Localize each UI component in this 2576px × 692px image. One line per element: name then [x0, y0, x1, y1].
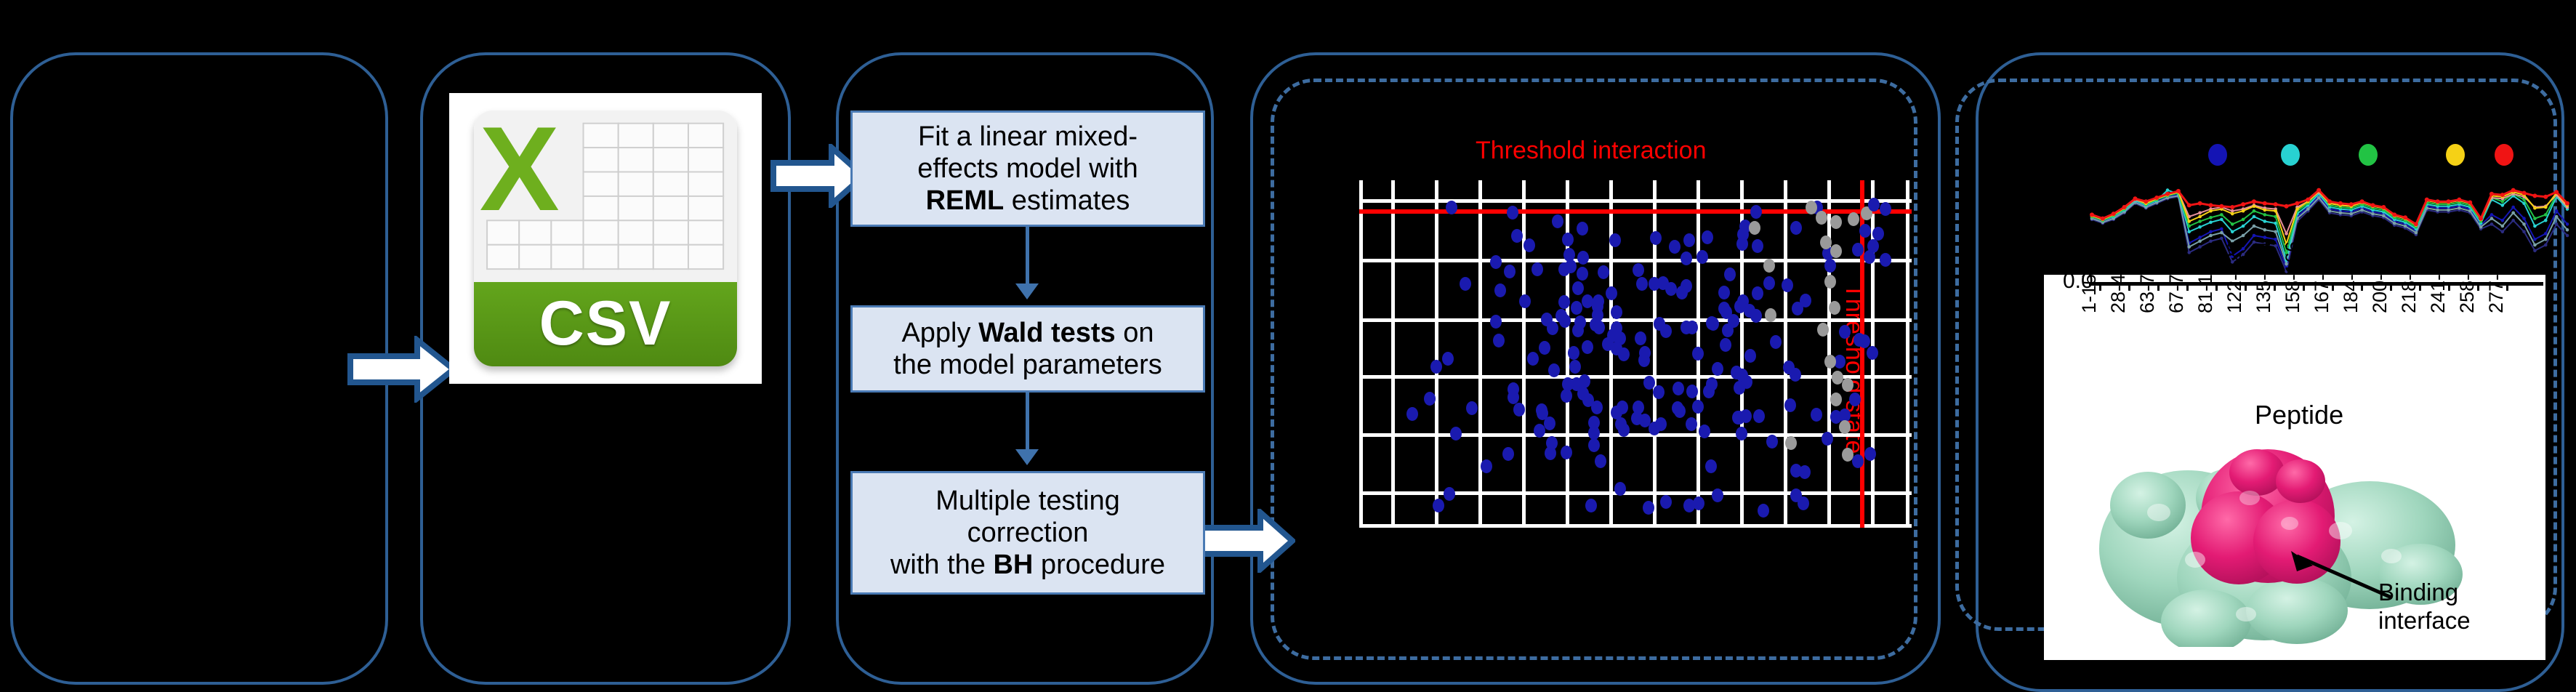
wald-tests-step-text: Apply Wald tests on the model parameters [893, 317, 1162, 381]
peptide-tick-mark [2390, 282, 2392, 291]
peptide-series-point [2566, 234, 2569, 238]
peptide-series-point [2198, 225, 2202, 229]
peptide-series-point [2154, 196, 2159, 200]
multiple-testing-step-text: Multiple testing correction with the BH … [890, 485, 1165, 581]
fit-model-step-text: Fit a linear mixed- effects model with R… [917, 121, 1138, 217]
peptide-series-point [2209, 203, 2213, 207]
peptide-series-point [2317, 188, 2321, 193]
peptide-series-point [2230, 205, 2234, 209]
scatter-point [1569, 360, 1581, 374]
peptide-series-point [2566, 228, 2569, 232]
scatter-point [1830, 393, 1842, 406]
scatter-point [1460, 277, 1471, 291]
peptide-tick-mark [2186, 282, 2189, 291]
peptide-tick-mark [2099, 282, 2101, 291]
peptide-tick-label: 200-214 [2369, 241, 2391, 313]
peptide-series-point [2392, 212, 2396, 217]
peptide-series-point [2263, 201, 2267, 206]
scatter-point [1579, 374, 1590, 388]
legend-dot-0 [2208, 144, 2227, 166]
scatter-point [1539, 341, 1550, 355]
binding-interface-line-2: interface [2378, 607, 2471, 635]
scatter-point [1696, 250, 1708, 264]
csv-file-card: X CSV [449, 93, 762, 384]
scatter-point [1784, 398, 1796, 412]
peptide-series-point [2187, 203, 2191, 207]
scatter-point [1607, 329, 1619, 342]
x-axis-title: Peptide [2255, 400, 2343, 430]
scatter-point [1830, 215, 1842, 229]
scatter-point [1490, 315, 1502, 329]
peptide-series-point [2209, 221, 2213, 225]
peptide-tick-label: 258-266 [2456, 241, 2479, 313]
peptide-series-point [2522, 217, 2526, 220]
peptide-series-point [2090, 212, 2094, 217]
peptide-tick-label: 158-166 [2282, 241, 2304, 313]
peptide-series-point [2370, 203, 2375, 207]
peptide-series-point [2554, 190, 2559, 194]
peptide-tick-mark [2128, 282, 2130, 291]
peptide-series-point [2209, 216, 2213, 220]
peptide-series-point [2253, 215, 2256, 219]
scatter-point [1617, 401, 1628, 414]
scatter-point [1842, 378, 1853, 392]
peptide-series-point [2544, 206, 2548, 209]
peptide-series-point [2544, 219, 2548, 222]
binding-interface-label: Binding interface [2378, 579, 2471, 635]
scatter-point [1839, 325, 1851, 339]
scatter-point [1736, 427, 1747, 440]
multiple-testing-step[interactable]: Multiple testing correction with the BH … [850, 471, 1205, 595]
peptide-tick-label: 1-15 [2078, 274, 2101, 313]
peptide-series-point [2285, 232, 2288, 236]
csv-x-letter: X [480, 114, 574, 196]
volcano-scatter-plot: Threshold interaction Threshold state [1359, 153, 1912, 531]
scatter-point [1830, 244, 1842, 258]
peptide-series-point [2447, 199, 2451, 204]
scatter-point [1800, 294, 1811, 307]
scatter-point [1546, 436, 1558, 450]
scatter-point [1720, 338, 1731, 352]
peptide-tick-label: 218-237 [2398, 241, 2420, 313]
threshold-interaction-label: Threshold interaction [1476, 137, 1707, 165]
scatter-point [1665, 282, 1677, 296]
scatter-point [1592, 308, 1603, 322]
peptide-series-point [2533, 249, 2537, 253]
peptide-series-point [2209, 240, 2213, 244]
peptide-tick-label: 67-75 [2165, 263, 2188, 313]
wald-line-1-post: on [1116, 318, 1154, 348]
scatter-point [1424, 392, 1436, 406]
scatter-point [1731, 366, 1742, 379]
peptide-tick-label: 28-44 [2107, 263, 2130, 313]
scatter-point [1824, 259, 1836, 273]
scatter-point [1562, 377, 1574, 391]
peptide-tick-mark [2332, 282, 2334, 291]
peptide-series-point [2533, 238, 2537, 241]
mt-line-1: Multiple testing [935, 486, 1119, 516]
fit-model-step[interactable]: Fit a linear mixed- effects model with R… [850, 110, 1205, 227]
scatter-point [1574, 315, 1586, 329]
peptide-series-point [2252, 199, 2256, 204]
peptide-series-point [2533, 206, 2537, 210]
scatter-point [1548, 363, 1560, 377]
peptide-series-point [2382, 214, 2386, 217]
scatter-point [1867, 346, 1878, 360]
scatter-point [1563, 248, 1575, 262]
peptide-series-point [2501, 219, 2505, 222]
peptide-series-point [2274, 230, 2277, 234]
scatter-point [1728, 314, 1739, 328]
scatter-point [1446, 201, 1457, 214]
scatter-point [1513, 403, 1525, 417]
peptide-series-point [2133, 196, 2137, 201]
peptide-series-point [2360, 209, 2364, 212]
wald-line-2: the model parameters [893, 350, 1162, 380]
scatter-point [1585, 499, 1597, 512]
scatter-point [1750, 205, 1762, 219]
peptide-series-point [2198, 236, 2202, 239]
peptide-series-point [2198, 245, 2202, 249]
scatter-point [1817, 323, 1829, 337]
scatter-point [1718, 302, 1730, 315]
peptide-tick-mark [2274, 282, 2276, 291]
mt-line-3-pre: with the [890, 550, 994, 580]
peptide-series-point [2220, 237, 2223, 241]
scatter-point [1547, 321, 1558, 335]
peptide-tick-label: 167-180 [2311, 241, 2333, 313]
peptide-series-point [2306, 207, 2310, 211]
peptide-series-point [2479, 217, 2483, 221]
scatter-point [1534, 424, 1545, 438]
plot-grid [1359, 180, 1912, 528]
peptide-series-point [2187, 251, 2191, 254]
peptide-series-point [2253, 204, 2256, 208]
peptide-series-point [2198, 201, 2202, 206]
scatter-point [1849, 393, 1861, 406]
peptide-series-point [2533, 244, 2537, 247]
scatter-point [1686, 385, 1698, 398]
scatter-point [1507, 206, 1518, 220]
fit-model-line-2: effects model with [917, 153, 1138, 184]
peptide-series-point [2533, 217, 2537, 220]
peptide-series-point [2555, 215, 2559, 219]
peptide-panel: 0.0 1-1528-4463-7367-7581-101122-129135-… [1992, 109, 2573, 661]
wald-emphasis: Wald tests [978, 318, 1116, 348]
peptide-series-point [2263, 236, 2267, 239]
reml-emphasis: REML [926, 185, 1005, 216]
legend-dot-1 [2281, 144, 2300, 166]
scatter-point [1519, 294, 1531, 308]
scatter-point [1673, 382, 1684, 395]
peptide-series-point [2532, 193, 2537, 198]
scatter-point [1577, 251, 1589, 265]
peptide-series-point [2544, 238, 2548, 241]
peptide-series-point [2403, 215, 2407, 220]
peptide-series-point [2263, 209, 2267, 212]
peptide-tick-mark [2245, 282, 2247, 291]
peptide-series-point [2242, 218, 2245, 222]
scatter-point [1502, 447, 1514, 461]
peptide-series-point [2263, 228, 2267, 232]
peptide-series-point [2458, 206, 2461, 210]
scatter-point [1606, 286, 1617, 300]
peptide-series-point [2144, 199, 2148, 204]
scatter-point [1577, 222, 1588, 236]
scatter-point [1433, 499, 1444, 512]
scatter-point [1611, 305, 1622, 319]
scatter-point [1681, 252, 1692, 265]
scatter-point [1681, 279, 1692, 293]
scatter-point [1824, 275, 1836, 289]
scatter-point [1660, 495, 1672, 509]
peptide-series-point [2436, 199, 2440, 204]
scatter-point [1527, 352, 1539, 366]
peptide-series-point [2468, 201, 2472, 205]
peptide-series-point [2457, 198, 2461, 202]
scatter-point [1577, 267, 1588, 281]
scatter-point [1655, 417, 1667, 431]
scatter-point [1598, 265, 1609, 279]
scatter-point [1753, 409, 1765, 423]
scatter-point [1450, 427, 1462, 440]
peptide-series-point [2274, 238, 2277, 241]
scatter-point [1504, 265, 1516, 278]
peptide-series-point [2544, 244, 2548, 247]
peptide-series-point [2404, 225, 2407, 228]
scatter-point [1880, 253, 1891, 267]
peptide-series-point [2490, 217, 2494, 220]
scatter-point [1806, 201, 1817, 214]
peptide-series-point [2198, 212, 2202, 215]
scatter-point [1686, 417, 1697, 431]
scatter-point [1782, 278, 1793, 292]
scatter-point [1552, 214, 1563, 228]
peptide-series-point [2447, 209, 2450, 212]
scatter-point [1712, 362, 1723, 376]
scatter-point [1852, 454, 1864, 468]
scatter-point [1732, 411, 1744, 425]
peptide-series-point [2295, 201, 2299, 206]
scatter-point [1614, 482, 1626, 496]
peptide-tick-mark [2448, 282, 2450, 291]
peptide-series-point [2565, 201, 2569, 206]
peptide-series-point [2242, 209, 2245, 213]
legend-dot-2 [2359, 144, 2378, 166]
scatter-point [1681, 321, 1692, 334]
peptide-series-point [2381, 205, 2386, 209]
scatter-point [1643, 376, 1655, 390]
peptide-series-point [2522, 222, 2526, 226]
scatter-point [1763, 259, 1775, 273]
peptide-series-point [2253, 234, 2256, 238]
scatter-point [1763, 276, 1775, 290]
scatter-point [1649, 277, 1660, 291]
peptide-series-point [2231, 212, 2234, 216]
scatter-point [1571, 301, 1582, 315]
scatter-point [1859, 224, 1871, 238]
peptide-tick-label: 63-73 [2136, 263, 2159, 313]
scatter-point [1660, 324, 1672, 338]
scatter-point [1572, 281, 1584, 295]
connector-1-arrowhead [1015, 283, 1039, 299]
peptide-series-point [2209, 230, 2213, 234]
peptide-series-point [2220, 218, 2223, 222]
scatter-point [1853, 333, 1865, 347]
peptide-series-point [2544, 232, 2548, 236]
scatter-point [1683, 233, 1695, 247]
wald-tests-step[interactable]: Apply Wald tests on the model parameters [850, 305, 1205, 393]
peptide-series-point [2253, 225, 2256, 228]
scatter-point [1588, 438, 1600, 452]
peptide-series-point [2317, 196, 2321, 200]
scatter-point [1595, 454, 1606, 468]
peptide-series-point [2555, 209, 2559, 213]
scatter-point [1493, 334, 1505, 347]
scatter-point [1749, 221, 1760, 235]
peptide-series-point [2511, 188, 2516, 193]
peptide-series-point [2187, 225, 2191, 228]
peptide-series-point [2500, 193, 2505, 197]
scatter-point [1591, 401, 1603, 414]
peptide-series-point [2543, 195, 2548, 199]
peptide-series-point [2490, 222, 2494, 226]
scatter-point [1842, 448, 1853, 462]
peptide-tick-label: 81-101 [2194, 252, 2217, 313]
peptide-series-point [2522, 191, 2527, 196]
peptide-series-point [2544, 213, 2548, 217]
scatter-point [1588, 416, 1600, 430]
peptide-series-point [2328, 209, 2332, 213]
peptide-series-point [2187, 230, 2191, 234]
scatter-point [1706, 377, 1718, 391]
scatter-point [1702, 230, 1713, 244]
scatter-point [1582, 340, 1593, 354]
scatter-point [1864, 447, 1876, 461]
peptide-series-point [2285, 204, 2289, 209]
scatter-point [1699, 425, 1710, 438]
peptide-series-point [2533, 225, 2537, 228]
peptide-series-point [2176, 189, 2181, 193]
peptide-series-point [2263, 213, 2267, 217]
peptide-tick-mark [2506, 282, 2508, 291]
peptide-series-point [2263, 220, 2267, 223]
scatter-point [1752, 239, 1763, 253]
csv-label-band: CSV [474, 282, 736, 366]
peptide-series-point [2339, 212, 2343, 215]
peptide-series-point [2511, 206, 2515, 209]
peptide-series-point [2349, 212, 2353, 216]
scatter-point [1712, 488, 1723, 502]
scatter-point [1511, 229, 1523, 243]
scatter-point [1537, 406, 1548, 420]
peptide-series-point [2349, 202, 2354, 206]
peptide-tick-label: 122-129 [2223, 241, 2246, 313]
mt-line-2: correction [967, 518, 1089, 548]
peptide-series-point [2220, 213, 2223, 217]
scatter-point [1653, 385, 1665, 399]
peptide-series-point [2242, 225, 2245, 228]
peptide-series-point [2274, 202, 2278, 206]
pipeline-figure: [data-name="panel-input"],[data-name="pa… [0, 0, 2576, 687]
scatter-point [1820, 236, 1832, 249]
peptide-series-point [2242, 234, 2245, 238]
fit-model-line-1: Fit a linear mixed- [918, 121, 1138, 152]
scatter-point [1568, 346, 1579, 360]
scatter-point [1562, 233, 1574, 246]
scatter-point [1734, 381, 1745, 395]
scatter-point [1561, 446, 1572, 459]
fit-model-line-3-post: estimates [1004, 185, 1130, 216]
peptide-series-point [2274, 209, 2277, 213]
peptide-series-point [2360, 199, 2364, 204]
scatter-point [1683, 499, 1695, 512]
peptide-series-point [2425, 198, 2429, 202]
peptide-series-point [2198, 220, 2202, 223]
arrow-to-results [1199, 509, 1295, 573]
peptide-series-point [2490, 213, 2494, 217]
peptide-series-point [2122, 205, 2127, 209]
connector-2-arrowhead [1015, 449, 1039, 465]
scatter-point [1816, 211, 1827, 225]
scatter-point [1636, 277, 1648, 291]
scatter-point [1444, 487, 1455, 501]
scatter-point [1577, 387, 1589, 401]
peptide-series-point [2241, 202, 2245, 206]
peptide-series-point [2522, 230, 2526, 234]
binding-interface-line-1: Binding [2378, 579, 2471, 607]
scatter-point [1864, 250, 1875, 264]
scatter-point [1524, 238, 1535, 252]
scatter-point [1442, 352, 1454, 366]
scatter-point [1706, 316, 1718, 330]
peptide-series-point [2501, 225, 2505, 228]
peptide-tick-label: 241-257 [2427, 241, 2450, 313]
peptide-series-point [2371, 212, 2375, 216]
peptide-series-point [2253, 209, 2256, 213]
scatter-point [1829, 301, 1840, 315]
scatter-point [1669, 240, 1681, 254]
peptide-tick-mark [2477, 282, 2479, 291]
wald-line-1-pre: Apply [901, 318, 978, 348]
scatter-point [1737, 294, 1749, 308]
scatter-point [1790, 221, 1802, 235]
peptide-series-point [2209, 209, 2213, 213]
scatter-point [1852, 243, 1864, 257]
scatter-point [1785, 436, 1797, 450]
scatter-point [1481, 459, 1492, 473]
legend-dot-3 [2446, 144, 2465, 166]
mt-line-3-post: procedure [1033, 550, 1165, 580]
scatter-point [1811, 408, 1822, 422]
scatter-point [1609, 233, 1621, 247]
peptide-series-point [2166, 188, 2170, 192]
scatter-point [1868, 198, 1880, 212]
scatter-point [1758, 504, 1769, 518]
peptide-series-point [2231, 222, 2234, 226]
scatter-point [1724, 267, 1736, 281]
peptide-figure-white-area: 0.0 1-1528-4463-7367-7581-101122-129135-… [2044, 275, 2545, 660]
peptide-series-point [2220, 231, 2223, 235]
connector-1 [1026, 227, 1029, 286]
scatter-point [1633, 263, 1644, 277]
scatter-point [1839, 420, 1851, 434]
scatter-point [1848, 212, 1859, 226]
peptide-series-point [2490, 192, 2494, 196]
scatter-point [1752, 286, 1763, 300]
panel-input-full [10, 52, 388, 685]
scatter-point [1643, 501, 1654, 515]
